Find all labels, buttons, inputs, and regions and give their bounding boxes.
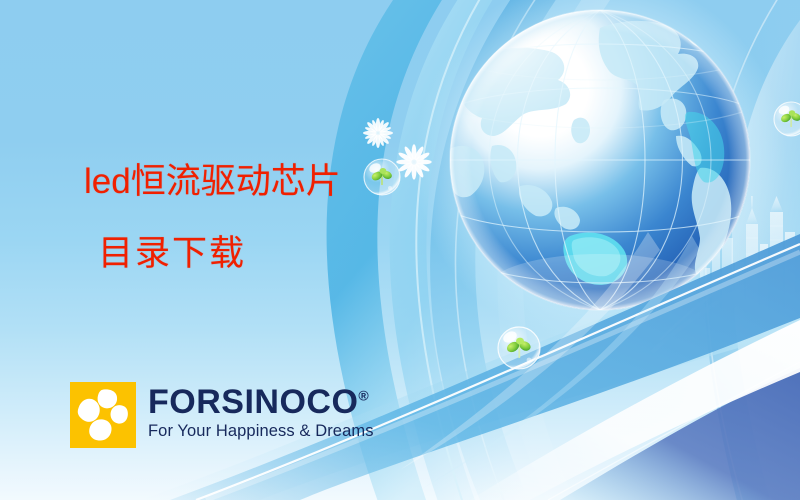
- logo-tagline: For Your Happiness & Dreams: [148, 421, 374, 441]
- petal-top: [98, 389, 118, 408]
- logo-wordmark: FORSINOCO®: [148, 385, 374, 419]
- bubble-with-green-sprout: [498, 327, 540, 369]
- company-logo: FORSINOCO® For Your Happiness & Dreams: [70, 382, 374, 448]
- bubble-with-green-sprout: [774, 102, 800, 136]
- logo-wordmark-text: FORSINOCO: [148, 383, 358, 421]
- logo-pinwheel-icon: [70, 382, 136, 448]
- logo-text-block: FORSINOCO® For Your Happiness & Dreams: [148, 382, 374, 441]
- headline-line-1: led恒流驱动芯片: [84, 160, 504, 204]
- headline-text: led恒流驱动芯片 目录下载: [84, 160, 504, 276]
- promo-banner: led恒流驱动芯片 目录下载 FORSINOCO® For Your Happi…: [0, 0, 800, 500]
- petal-left: [78, 399, 100, 422]
- petal-bottom: [89, 419, 111, 440]
- registered-trademark-icon: ®: [358, 388, 369, 404]
- headline-line-2: 目录下载: [84, 232, 504, 276]
- petal-right: [111, 405, 128, 423]
